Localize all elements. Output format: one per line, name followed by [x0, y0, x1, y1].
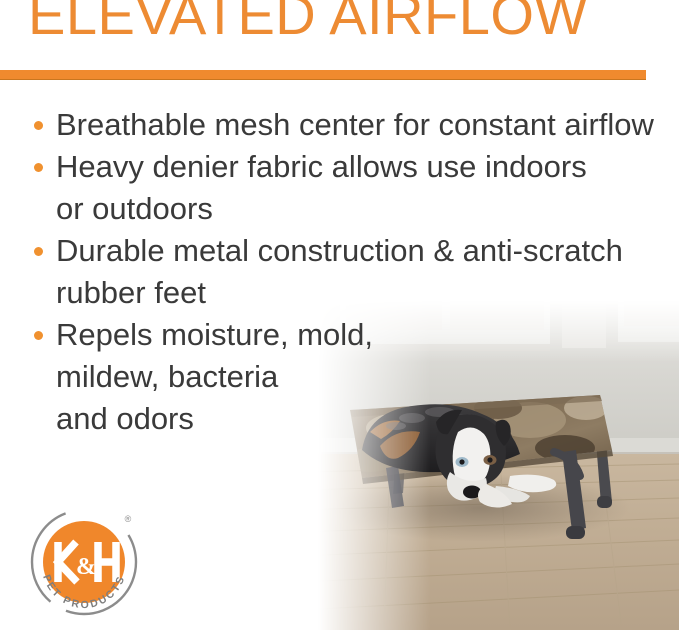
feature-line: Heavy denier fabric allows use indoors: [56, 146, 676, 188]
feature-line: and odors: [56, 398, 676, 440]
feature-line: Breathable mesh center for constant airf…: [56, 104, 676, 146]
feature-line: mildew, bacteria: [56, 356, 676, 398]
feature-line: rubber feet: [56, 272, 676, 314]
logo-registered-mark: ®: [125, 514, 132, 524]
list-item: Durable metal construction & anti-scratc…: [30, 230, 676, 314]
kh-pet-products-logo-icon: & ® PET PRODUCTS: [20, 498, 148, 626]
list-item: Breathable mesh center for constant airf…: [30, 104, 676, 146]
feature-line: Durable metal construction & anti-scratc…: [56, 230, 676, 272]
feature-line: Repels moisture, mold,: [56, 314, 676, 356]
bullet-dot-icon: [34, 121, 43, 130]
logo-ampersand: &: [76, 554, 96, 580]
list-item: Heavy denier fabric allows use indoors o…: [30, 146, 676, 230]
page-title: ELEVATED AIRFLOW: [28, 0, 588, 44]
bullet-dot-icon: [34, 247, 43, 256]
feature-line: or outdoors: [56, 188, 676, 230]
orange-divider-bar: [0, 70, 646, 80]
feature-bullet-list: Breathable mesh center for constant airf…: [30, 104, 676, 440]
brand-logo: & ® PET PRODUCTS: [20, 498, 148, 626]
list-item: Repels moisture, mold, mildew, bacteria …: [30, 314, 676, 440]
bullet-dot-icon: [34, 331, 43, 340]
bullet-dot-icon: [34, 163, 43, 172]
